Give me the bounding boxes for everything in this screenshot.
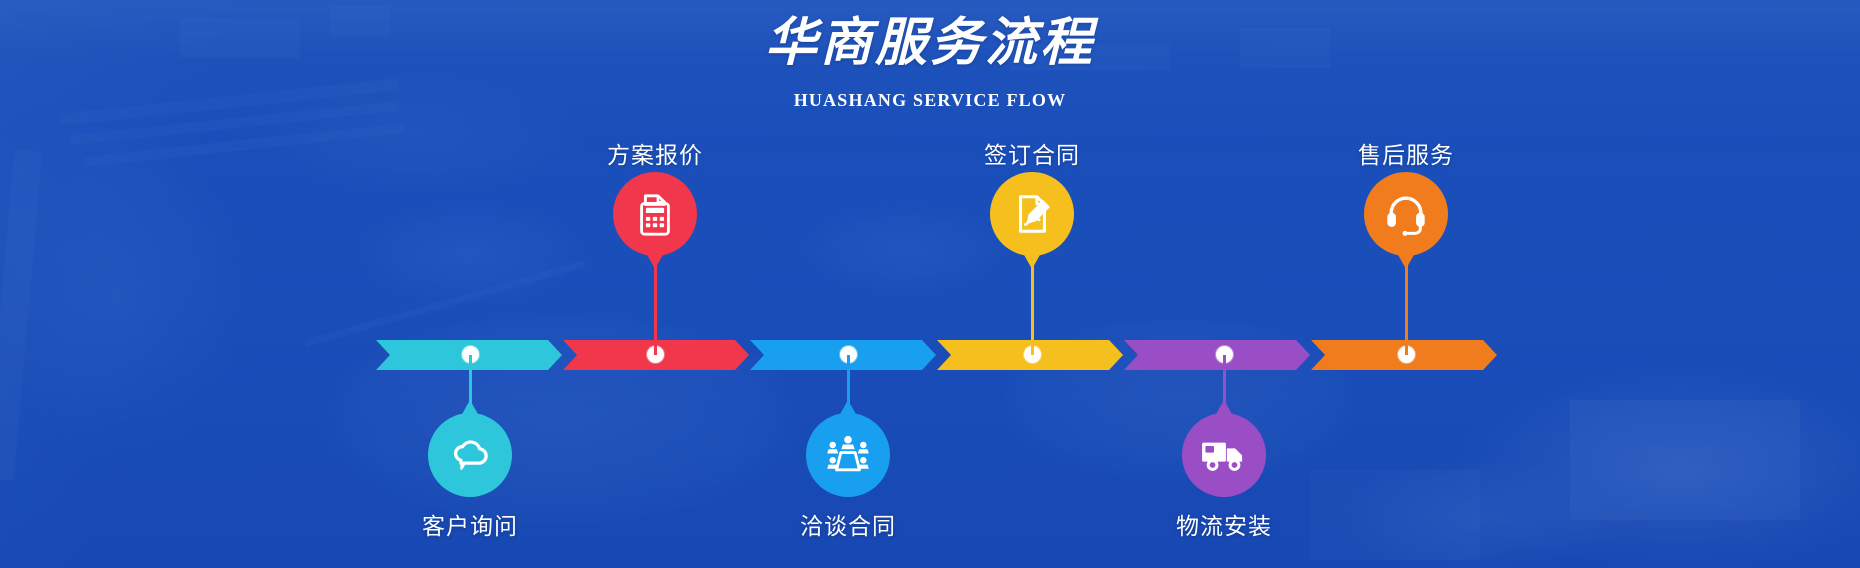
flow-connector-stem-4 <box>1031 255 1034 355</box>
flow-step-label-3: 洽谈合同 <box>708 507 988 541</box>
flow-step-label-2: 方案报价 <box>515 136 795 170</box>
flow-icon-bubble-1[interactable] <box>428 413 512 497</box>
headset-support-icon <box>1383 191 1429 237</box>
flow-step-label-6: 售后服务 <box>1266 136 1546 170</box>
flow-icon-bubble-6[interactable] <box>1364 172 1448 256</box>
flow-icon-bubble-2[interactable] <box>613 172 697 256</box>
flow-icon-bubble-4[interactable] <box>990 172 1074 256</box>
service-flow-banner: 华商服务流程 HUASHANG SERVICE FLOW 客户询问方案报价洽谈合… <box>0 0 1860 568</box>
flow-icon-bubble-5[interactable] <box>1182 413 1266 497</box>
flow-step-label-5: 物流安装 <box>1084 507 1364 541</box>
cloud-chat-icon <box>447 432 493 478</box>
calculator-receipt-icon <box>633 191 677 237</box>
flow-step-label-4: 签订合同 <box>892 136 1172 170</box>
flow-step-label-1: 客户询问 <box>330 507 610 541</box>
meeting-table-icon <box>824 433 872 477</box>
flow-connector-stem-2 <box>654 255 657 355</box>
flow-connector-stem-6 <box>1405 255 1408 355</box>
service-flow-diagram: 客户询问方案报价洽谈合同签订合同物流安装售后服务 <box>0 0 1860 568</box>
delivery-truck-icon <box>1200 435 1248 475</box>
flow-icon-bubble-3[interactable] <box>806 413 890 497</box>
sign-contract-pen-icon <box>1010 191 1054 237</box>
